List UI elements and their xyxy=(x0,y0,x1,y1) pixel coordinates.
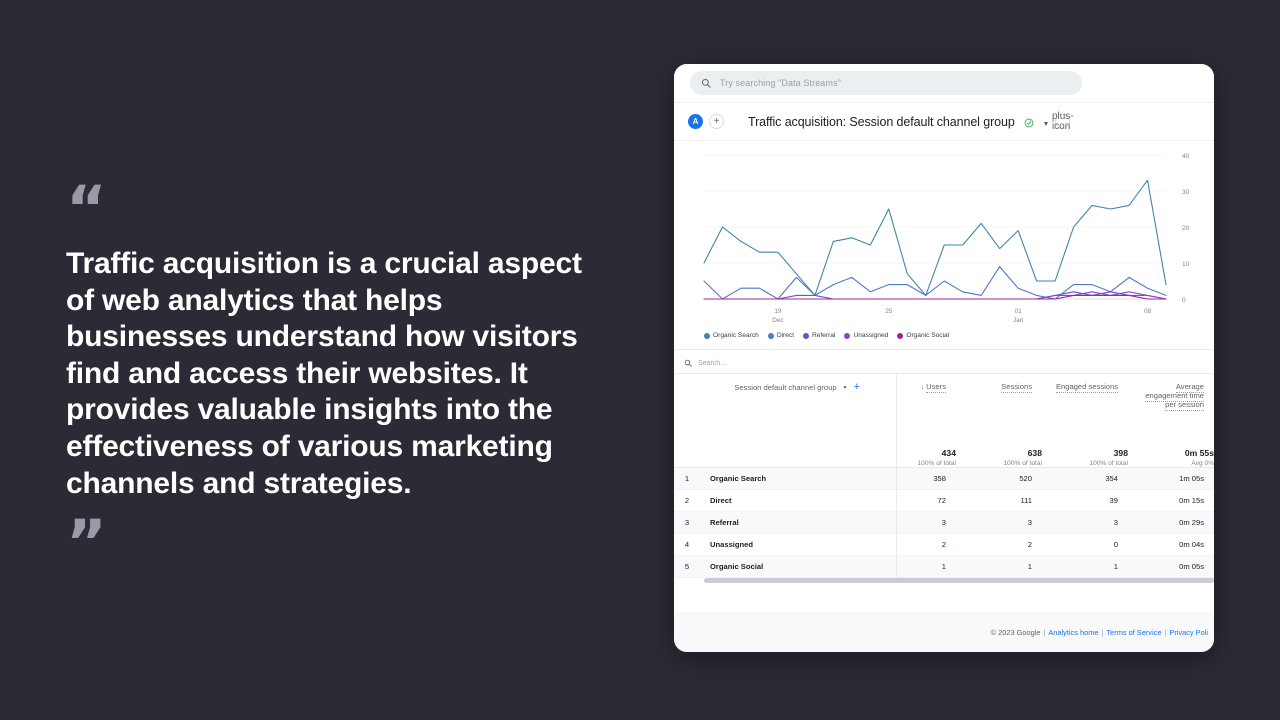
table-search-input[interactable]: Search... xyxy=(674,353,1214,373)
metric-header-sessions-label: Sessions xyxy=(1001,382,1032,393)
totals-sessions-sub: 100% of total xyxy=(956,460,1042,467)
totals-dimension-cell xyxy=(700,448,870,468)
totals-avgtime-sub: Avg 0% xyxy=(1128,460,1214,467)
svg-text:10: 10 xyxy=(1182,261,1190,268)
footer-separator: | xyxy=(1102,628,1104,637)
legend-color-swatch xyxy=(803,333,809,339)
row-users: 2 xyxy=(870,533,956,555)
add-dimension-icon[interactable]: + xyxy=(854,382,860,393)
search-icon xyxy=(701,78,711,88)
row-dimension: Referral xyxy=(700,511,870,533)
table-row[interactable]: 5Organic Social1110m 05s xyxy=(674,555,1214,577)
svg-text:Dec: Dec xyxy=(772,317,784,324)
row-sessions: 520 xyxy=(956,467,1042,489)
totals-users-value: 434 xyxy=(870,448,956,458)
legend-label: Organic Social xyxy=(906,332,949,339)
table-body: 1Organic Search3585203541m 05s2Direct721… xyxy=(674,467,1214,577)
legend-item[interactable]: Organic Social xyxy=(897,332,949,339)
svg-text:25: 25 xyxy=(885,308,893,315)
legend-item[interactable]: Direct xyxy=(768,332,794,339)
sort-arrow-icon: ↓ xyxy=(921,384,925,391)
table-search-placeholder: Search... xyxy=(698,360,726,367)
row-dimension: Organic Search xyxy=(700,467,870,489)
plus-icon[interactable]: + xyxy=(709,114,724,129)
row-rank: 2 xyxy=(674,489,700,511)
table-row[interactable]: 3Referral3330m 29s xyxy=(674,511,1214,533)
totals-avgtime-cell: 0m 55s Avg 0% xyxy=(1128,448,1214,468)
metric-header-sessions[interactable]: Sessions xyxy=(956,374,1042,448)
row-users: 72 xyxy=(870,489,956,511)
footer-separator: | xyxy=(1164,628,1166,637)
legend-label: Referral xyxy=(812,332,835,339)
table-totals-row: 434 100% of total 638 100% of total 398 … xyxy=(674,448,1214,468)
legend-item[interactable]: Referral xyxy=(803,332,835,339)
legend-item[interactable]: Organic Search xyxy=(704,332,759,339)
quote-text: Traffic acquisition is a crucial aspect … xyxy=(66,246,596,502)
footer-separator: | xyxy=(1043,628,1045,637)
totals-sessions-cell: 638 100% of total xyxy=(956,448,1042,468)
legend-color-swatch xyxy=(704,333,710,339)
totals-avgtime-value: 0m 55s xyxy=(1128,448,1214,458)
row-dimension: Unassigned xyxy=(700,533,870,555)
row-users: 1 xyxy=(870,555,956,577)
table-scroll-region: Session default channel group ▾ + ↓Users… xyxy=(674,373,1214,578)
report-table-zone: Search... Session default channel group … xyxy=(674,349,1214,612)
rank-header xyxy=(674,374,700,448)
totals-engaged-cell: 398 100% of total xyxy=(1042,448,1128,468)
global-search-input[interactable]: Try searching "Data Streams" xyxy=(690,71,1082,95)
row-rank: 4 xyxy=(674,533,700,555)
quote-close-mark: ” xyxy=(66,512,626,574)
row-dimension: Organic Social xyxy=(700,555,870,577)
row-avg-engagement-time: 1m 05s xyxy=(1128,467,1214,489)
metric-header-engaged-sessions[interactable]: Engaged sessions xyxy=(1042,374,1128,448)
svg-text:Jan: Jan xyxy=(1013,317,1024,324)
scrollbar-thumb[interactable] xyxy=(704,578,1214,583)
legend-label: Unassigned xyxy=(853,332,888,339)
row-sessions: 1 xyxy=(956,555,1042,577)
svg-text:08: 08 xyxy=(1144,308,1152,315)
metric-header-engaged-label: Engaged sessions xyxy=(1056,382,1118,393)
line-chart: 01020304019Dec2501Jan08 xyxy=(674,147,1214,327)
row-rank: 1 xyxy=(674,467,700,489)
metric-header-avgtime-label: Average engagement time per session xyxy=(1145,382,1204,411)
table-divider xyxy=(896,373,897,578)
chevron-down-icon[interactable]: ▼ xyxy=(1042,121,1049,128)
row-sessions: 111 xyxy=(956,489,1042,511)
avatar[interactable]: A xyxy=(688,114,703,129)
row-avg-engagement-time: 0m 15s xyxy=(1128,489,1214,511)
footer-link-terms-of-service[interactable]: Terms of Service xyxy=(1106,628,1161,637)
line-chart-svg: 01020304019Dec2501Jan08 xyxy=(674,147,1214,327)
svg-text:01: 01 xyxy=(1015,308,1023,315)
svg-text:40: 40 xyxy=(1182,153,1190,160)
horizontal-scrollbar[interactable] xyxy=(674,578,1214,585)
row-avg-engagement-time: 0m 29s xyxy=(1128,511,1214,533)
quote-panel: “ Traffic acquisition is a crucial aspec… xyxy=(66,178,626,574)
footer-link-privacy-policy[interactable]: Privacy Poli xyxy=(1169,628,1208,637)
table-header-row: Session default channel group ▾ + ↓Users… xyxy=(674,374,1214,448)
totals-rank-cell xyxy=(674,448,700,468)
totals-engaged-sub: 100% of total xyxy=(1042,460,1128,467)
row-engaged-sessions: 0 xyxy=(1042,533,1128,555)
trend-chart-panel: 01020304019Dec2501Jan08 Organic SearchDi… xyxy=(674,140,1214,349)
search-icon xyxy=(684,354,692,372)
page-title: Traffic acquisition: Session default cha… xyxy=(748,115,1049,129)
row-sessions: 2 xyxy=(956,533,1042,555)
quote-open-mark: “ xyxy=(66,178,626,240)
totals-users-cell: 434 100% of total xyxy=(870,448,956,468)
metric-header-users[interactable]: ↓Users xyxy=(870,374,956,448)
traffic-acquisition-table: Session default channel group ▾ + ↓Users… xyxy=(674,373,1214,578)
chart-legend: Organic SearchDirectReferralUnassignedOr… xyxy=(674,327,1214,345)
row-dimension: Direct xyxy=(700,489,870,511)
legend-color-swatch xyxy=(768,333,774,339)
totals-users-sub: 100% of total xyxy=(870,460,956,467)
svg-text:20: 20 xyxy=(1182,225,1190,232)
row-avg-engagement-time: 0m 04s xyxy=(1128,533,1214,555)
svg-text:19: 19 xyxy=(774,308,782,315)
totals-engaged-value: 398 xyxy=(1042,448,1128,458)
report-titlebar: A + Traffic acquisition: Session default… xyxy=(674,102,1214,140)
row-users: 358 xyxy=(870,467,956,489)
metric-header-avg-engagement-time[interactable]: Average engagement time per session xyxy=(1128,374,1214,448)
analytics-app-card: Try searching "Data Streams" A + Traffic… xyxy=(674,64,1214,652)
legend-color-swatch xyxy=(897,333,903,339)
app-footer: © 2023 Google | Analytics home | Terms o… xyxy=(674,612,1214,652)
check-circle-icon xyxy=(1024,118,1034,128)
dimension-header[interactable]: Session default channel group ▾ + xyxy=(700,374,870,448)
add-comparison-icon[interactable]: plus-icon xyxy=(1055,114,1070,129)
svg-text:0: 0 xyxy=(1182,297,1186,304)
page-title-text: Traffic acquisition: Session default cha… xyxy=(748,115,1015,129)
legend-label: Organic Search xyxy=(713,332,759,339)
svg-text:30: 30 xyxy=(1182,189,1190,196)
row-engaged-sessions: 39 xyxy=(1042,489,1128,511)
global-search-placeholder: Try searching "Data Streams" xyxy=(720,78,841,88)
footer-copyright: © 2023 Google xyxy=(991,628,1041,637)
chevron-down-icon[interactable]: ▾ xyxy=(844,384,847,391)
row-rank: 3 xyxy=(674,511,700,533)
row-sessions: 3 xyxy=(956,511,1042,533)
table-row[interactable]: 2Direct72111390m 15s xyxy=(674,489,1214,511)
table-head: Session default channel group ▾ + ↓Users… xyxy=(674,374,1214,468)
totals-sessions-value: 638 xyxy=(956,448,1042,458)
table-row[interactable]: 1Organic Search3585203541m 05s xyxy=(674,467,1214,489)
row-engaged-sessions: 3 xyxy=(1042,511,1128,533)
dimension-header-label: Session default channel group xyxy=(734,383,836,392)
table-row[interactable]: 4Unassigned2200m 04s xyxy=(674,533,1214,555)
legend-color-swatch xyxy=(844,333,850,339)
row-rank: 5 xyxy=(674,555,700,577)
row-users: 3 xyxy=(870,511,956,533)
row-engaged-sessions: 354 xyxy=(1042,467,1128,489)
row-avg-engagement-time: 0m 05s xyxy=(1128,555,1214,577)
legend-item[interactable]: Unassigned xyxy=(844,332,888,339)
row-engaged-sessions: 1 xyxy=(1042,555,1128,577)
legend-label: Direct xyxy=(777,332,794,339)
footer-link-analytics-home[interactable]: Analytics home xyxy=(1048,628,1098,637)
app-topbar: Try searching "Data Streams" xyxy=(674,64,1214,102)
metric-header-users-label: Users xyxy=(926,382,946,393)
